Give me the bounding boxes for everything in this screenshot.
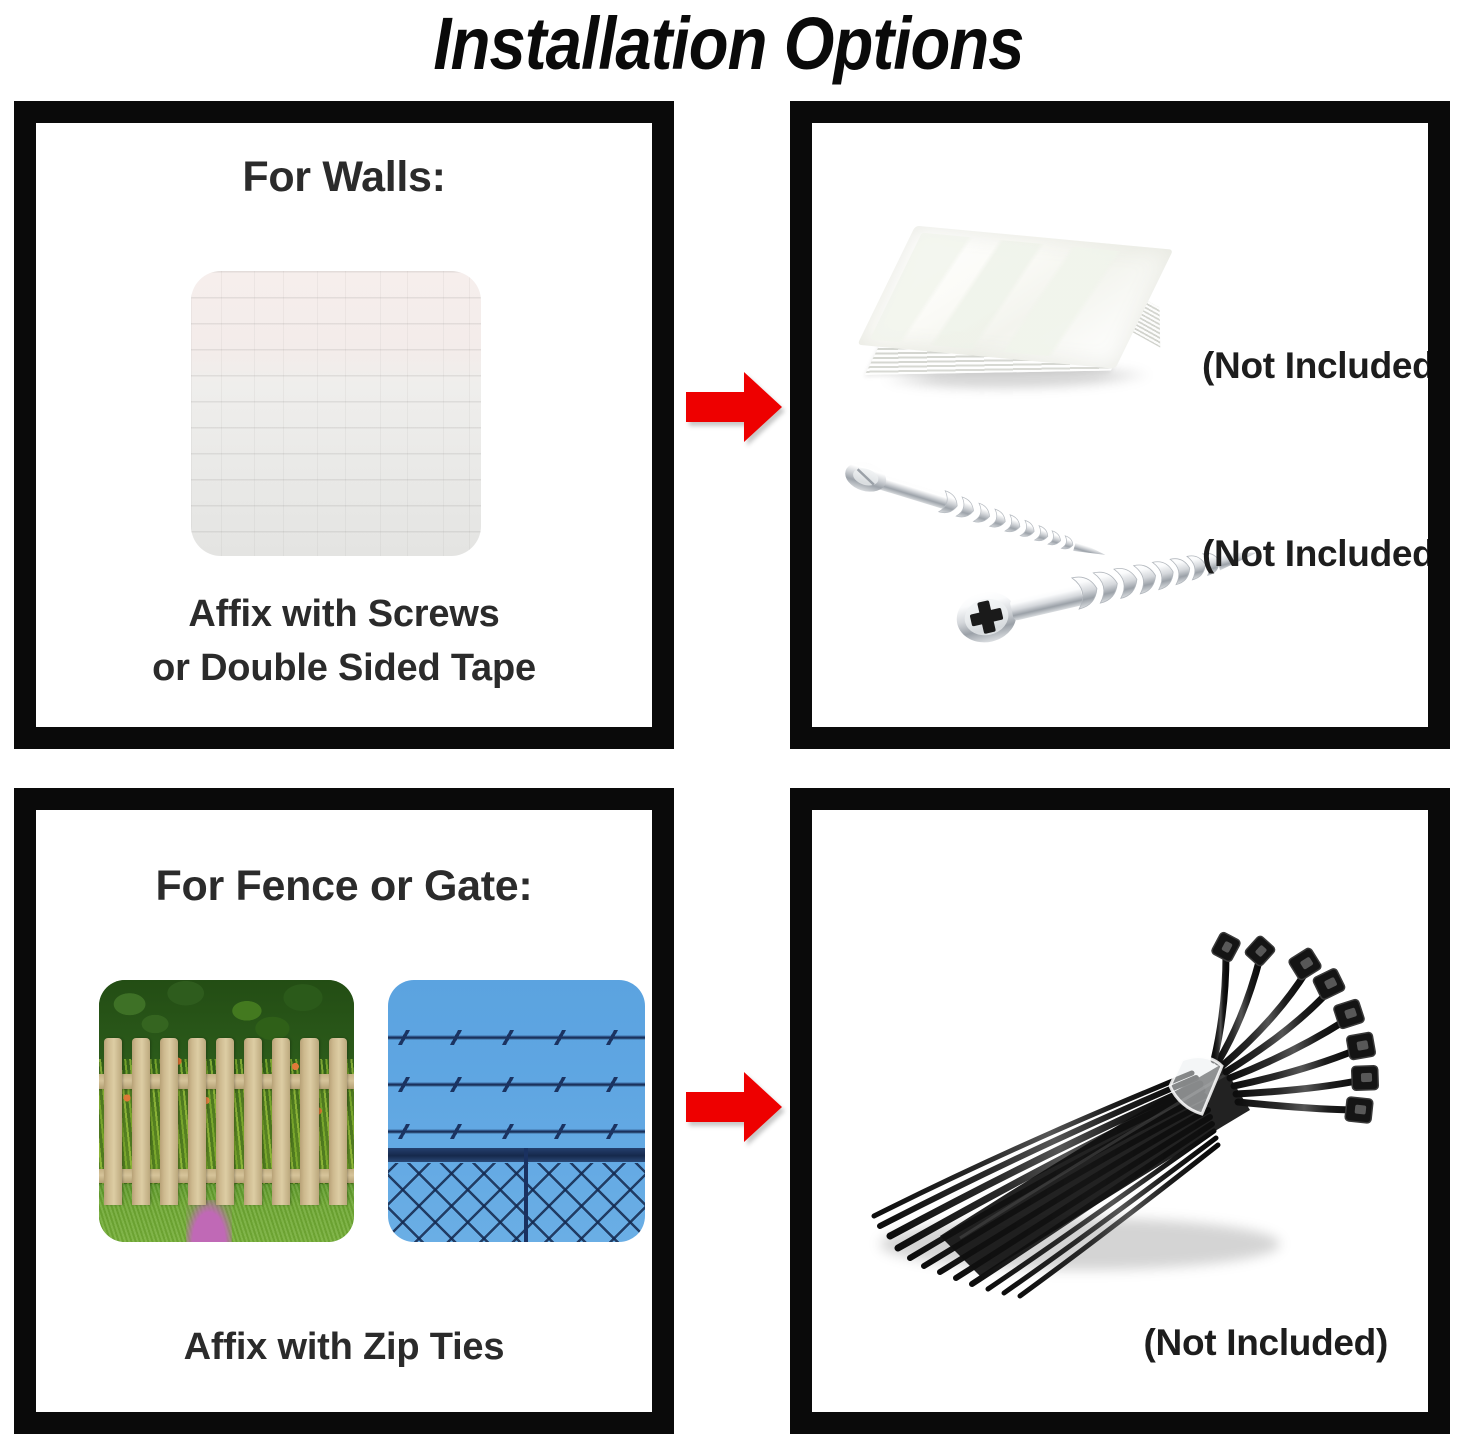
white-brick-wall-image [191, 271, 481, 556]
chain-link-barbed-wire-fence-image [388, 980, 645, 1242]
zip-ties-not-included-label: (Not Included) [1144, 1322, 1388, 1364]
picket-slat [300, 1038, 318, 1206]
picket-slat [329, 1038, 347, 1206]
caption-for-fence: Affix with Zip Ties [36, 1320, 652, 1374]
panel-for-fence-content: For Fence or Gate: [36, 810, 652, 1412]
tape-top-face [857, 226, 1173, 369]
chain-link-post [524, 1148, 528, 1242]
heading-for-walls: For Walls: [36, 153, 652, 202]
picket-slats [99, 980, 354, 1242]
caption-line-1: Affix with Screws [36, 587, 652, 641]
picket-slat [244, 1038, 262, 1206]
caption-line-2: or Double Sided Tape [36, 641, 652, 695]
panel-for-fence-or-gate: For Fence or Gate: [14, 788, 674, 1434]
barbed-wire-strand [388, 1035, 645, 1040]
panel-for-walls-content: For Walls: Affix with Screws or Double S… [36, 123, 652, 727]
picket-slat [104, 1038, 122, 1206]
picket-slat [132, 1038, 150, 1206]
caption-for-walls: Affix with Screws or Double Sided Tape [36, 587, 652, 695]
panel-zip-ties: (Not Included) [790, 788, 1450, 1434]
barbed-wire-strand [388, 1082, 645, 1087]
tape-not-included-label: (Not Included) [1202, 345, 1428, 387]
silver-screw-upper-icon [846, 453, 1146, 568]
double-sided-tape-stack-image [870, 235, 1183, 440]
red-right-arrow-icon [686, 368, 782, 446]
panel-hardware-content: (Not Included) [812, 123, 1428, 727]
picket-slat [272, 1038, 290, 1206]
screws-not-included-label: (Not Included) [1202, 533, 1428, 575]
red-right-arrow-icon [686, 1068, 782, 1146]
panel-for-walls: For Walls: Affix with Screws or Double S… [14, 101, 674, 749]
barbed-wire-strand [388, 1129, 645, 1134]
picket-slat [160, 1038, 178, 1206]
picket-slat [216, 1038, 234, 1206]
panel-hardware: (Not Included) [790, 101, 1450, 749]
heading-for-fence-or-gate: For Fence or Gate: [36, 862, 652, 911]
black-zip-tie-bundle-image [830, 914, 1370, 1334]
panel-zip-ties-content: (Not Included) [812, 810, 1428, 1412]
page-title: Installation Options [87, 2, 1369, 86]
chain-link-mesh [388, 1163, 645, 1242]
wooden-picket-fence-image [99, 980, 354, 1242]
picket-slat [188, 1038, 206, 1206]
chain-link-top-rail [388, 1148, 645, 1162]
